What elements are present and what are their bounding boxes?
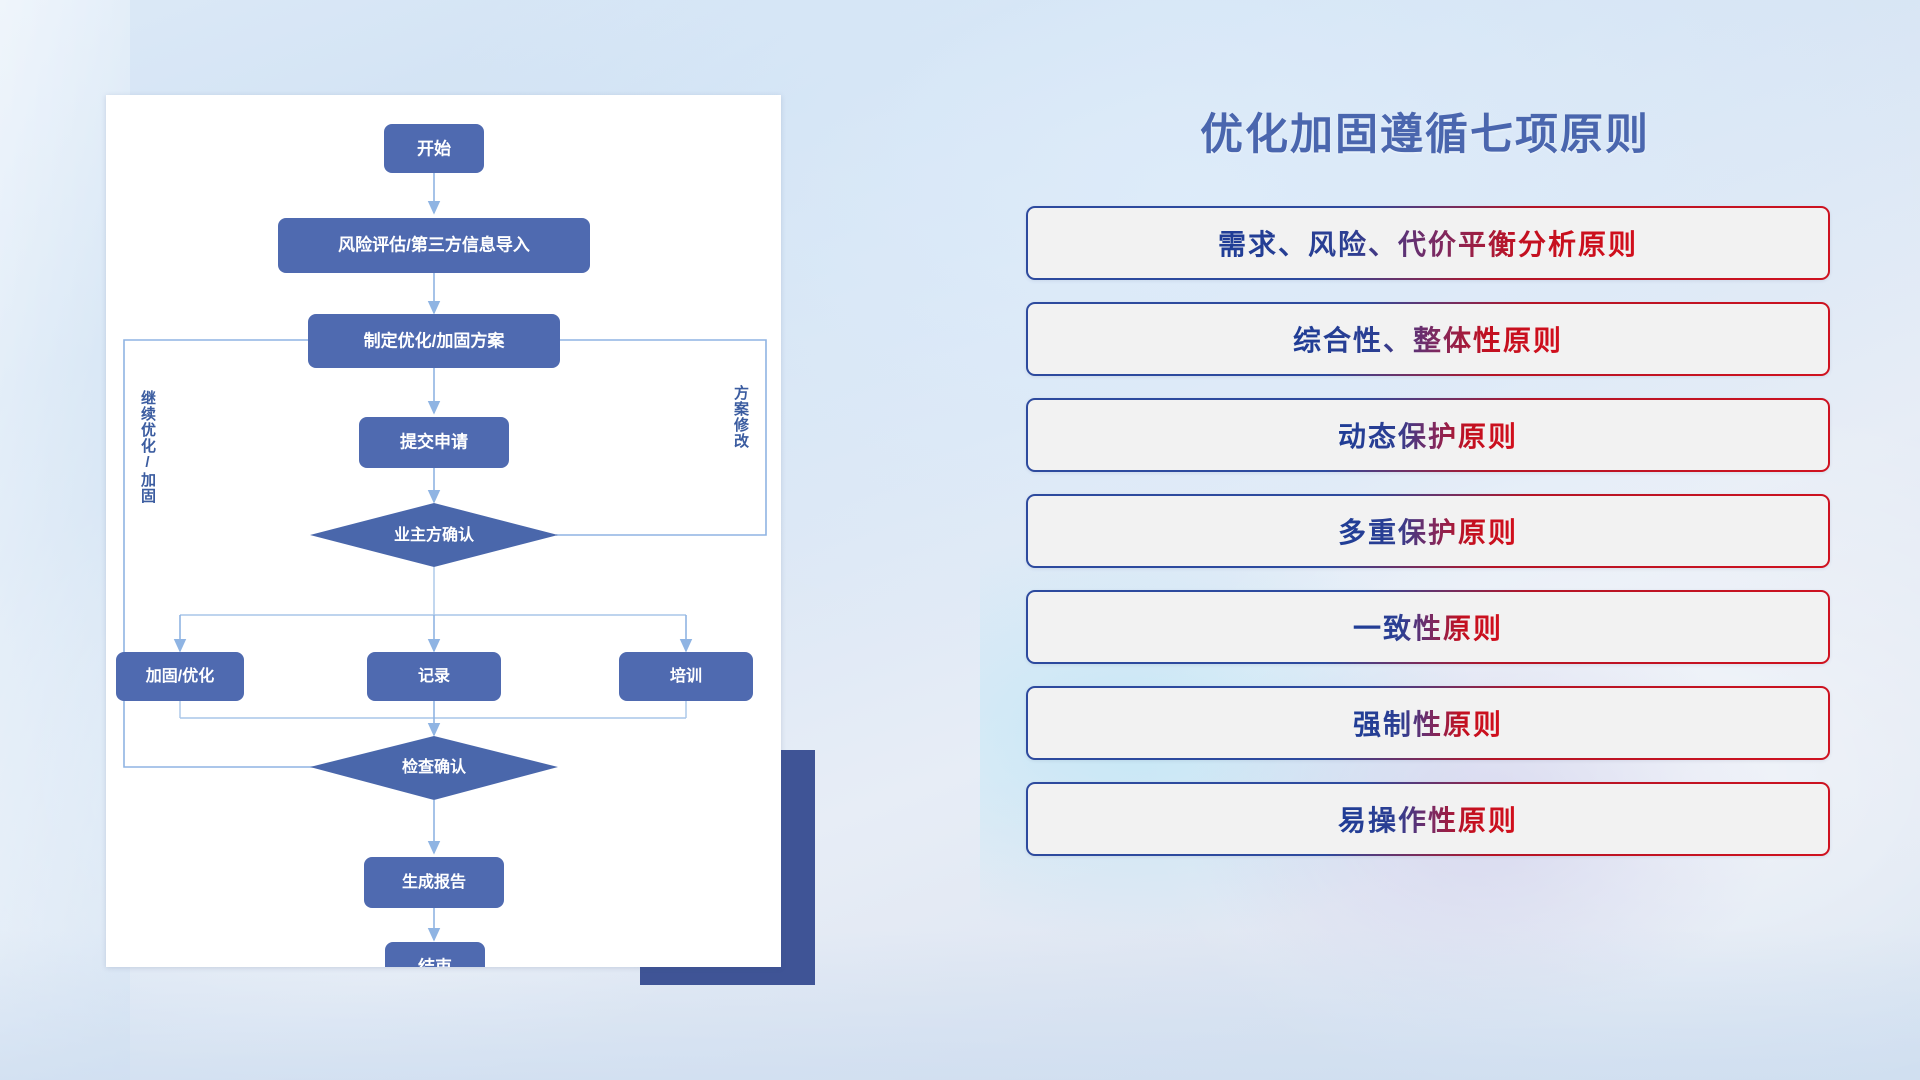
- flow-node-record-label: 记录: [418, 667, 450, 685]
- page-title: 优化加固遵循七项原则: [1010, 100, 1840, 162]
- principles-list: 需求、风险、代价平衡分析原则 综合性、整体性原则 动态保护原则 多重保护原则 一…: [1010, 206, 1840, 856]
- flow-node-start[interactable]: 开始: [384, 124, 484, 173]
- slide-root: 开始 风险评估/第三方信息导入 制定优化/加固方案 提交申请 业主方确认: [0, 0, 1920, 1080]
- flow-node-report-label: 生成报告: [402, 872, 466, 891]
- flow-node-check-label: 检查确认: [402, 757, 467, 776]
- flow-node-owner-confirm-label: 业主方确认: [394, 525, 475, 544]
- principle-card-2[interactable]: 综合性、整体性原则: [1026, 302, 1830, 376]
- flow-node-check[interactable]: 检查确认: [310, 736, 558, 800]
- edge-label-continue-optimize: 继续优化/加固: [140, 390, 155, 504]
- principle-label: 需求、风险、代价平衡分析原则: [1218, 223, 1638, 263]
- principle-label: 动态保护原则: [1338, 415, 1518, 455]
- flow-node-report[interactable]: 生成报告: [364, 857, 504, 908]
- flow-node-submit-label: 提交申请: [400, 431, 468, 451]
- flow-node-risk[interactable]: 风险评估/第三方信息导入: [278, 218, 590, 273]
- flow-node-reinforce-label: 加固/优化: [145, 666, 214, 685]
- principle-card-6[interactable]: 强制性原则: [1026, 686, 1830, 760]
- flow-node-owner-confirm[interactable]: 业主方确认: [310, 503, 558, 567]
- flow-node-start-label: 开始: [417, 138, 451, 158]
- principle-label: 易操作性原则: [1338, 799, 1518, 839]
- edge-owner-plan-revise: [466, 340, 766, 535]
- flow-node-plan[interactable]: 制定优化/加固方案: [308, 314, 560, 368]
- principle-card-5[interactable]: 一致性原则: [1026, 590, 1830, 664]
- flow-node-end-label: 结束: [418, 956, 452, 967]
- principle-label: 综合性、整体性原则: [1293, 319, 1563, 359]
- principle-label: 强制性原则: [1353, 703, 1503, 743]
- edge-label-plan-revision: 方案修改: [733, 385, 748, 449]
- flow-node-training-label: 培训: [670, 666, 702, 685]
- principle-label: 一致性原则: [1353, 607, 1503, 647]
- flowchart-svg: 开始 风险评估/第三方信息导入 制定优化/加固方案 提交申请 业主方确认: [106, 95, 781, 967]
- flow-node-record[interactable]: 记录: [367, 652, 501, 701]
- flow-node-submit[interactable]: 提交申请: [359, 417, 509, 468]
- principle-card-4[interactable]: 多重保护原则: [1026, 494, 1830, 568]
- flow-node-end[interactable]: 结束: [385, 942, 485, 967]
- principles-panel: 优化加固遵循七项原则 需求、风险、代价平衡分析原则 综合性、整体性原则 动态保护…: [1010, 100, 1840, 1000]
- principle-card-1[interactable]: 需求、风险、代价平衡分析原则: [1026, 206, 1830, 280]
- principle-card-3[interactable]: 动态保护原则: [1026, 398, 1830, 472]
- principle-label: 多重保护原则: [1338, 511, 1518, 551]
- flowchart-panel: 开始 风险评估/第三方信息导入 制定优化/加固方案 提交申请 业主方确认: [106, 95, 781, 967]
- edge-check-plan-continue: [124, 340, 406, 767]
- flow-node-risk-label: 风险评估/第三方信息导入: [338, 234, 530, 254]
- flow-node-reinforce[interactable]: 加固/优化: [116, 652, 244, 701]
- flow-node-training[interactable]: 培训: [619, 652, 753, 701]
- principle-card-7[interactable]: 易操作性原则: [1026, 782, 1830, 856]
- flow-node-plan-label: 制定优化/加固方案: [364, 330, 506, 350]
